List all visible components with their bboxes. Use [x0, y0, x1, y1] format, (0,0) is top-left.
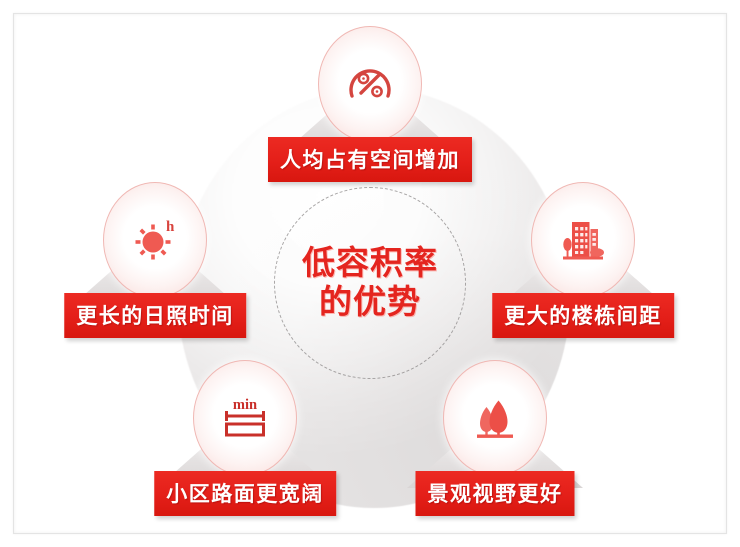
center-title: 低容积率 的优势: [274, 187, 466, 379]
sun-hours-icon: h: [125, 210, 185, 270]
node-label-top[interactable]: 人均占有空间增加: [268, 137, 472, 182]
sun-hours-icon-text: h: [166, 219, 175, 235]
trees-icon: [465, 388, 525, 448]
percent-gauge-icon: [340, 54, 400, 114]
center-title-line2: 的优势: [319, 284, 421, 321]
center-title-line1: 低容积率: [302, 245, 438, 282]
icon-bubble-bottom-left[interactable]: min: [193, 360, 297, 476]
icon-bubble-left[interactable]: h: [103, 182, 207, 298]
node-label-left[interactable]: 更长的日照时间: [64, 293, 246, 338]
road-width-min-icon-text: min: [233, 397, 257, 413]
icon-bubble-top[interactable]: [318, 26, 422, 142]
icon-bubble-right[interactable]: [531, 182, 635, 298]
node-label-bottom-right[interactable]: 景观视野更好: [416, 471, 575, 516]
icon-bubble-bottom-right[interactable]: [443, 360, 547, 476]
node-label-bottom-left[interactable]: 小区路面更宽阔: [154, 471, 336, 516]
road-width-min-icon: min: [214, 387, 276, 449]
buildings-icon: [553, 210, 613, 270]
infographic-canvas: 低容积率 的优势 人均占有空间增加: [0, 0, 740, 547]
node-label-right[interactable]: 更大的楼栋间距: [492, 293, 674, 338]
